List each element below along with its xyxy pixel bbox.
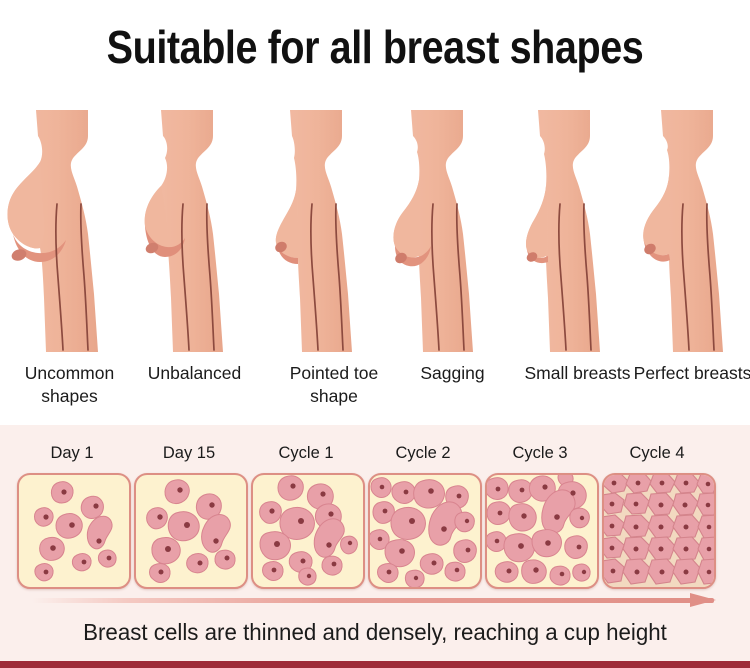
cell-cluster-icon	[19, 475, 129, 587]
shape-label-3: Pointed toe shape	[270, 362, 398, 408]
breast-profile-uncommon-icon	[2, 108, 127, 353]
stage-label-2: Day 15	[133, 443, 245, 463]
cell-box-3	[251, 473, 365, 589]
cell-progression-panel: Day 1 Day 15 Cycle 1 Cycle 2 Cycle 3 Cyc…	[0, 425, 750, 661]
stage-label-4: Cycle 2	[367, 443, 479, 463]
shape-figure-3	[252, 108, 377, 353]
shape-figure-4	[377, 108, 502, 353]
stage-label-3: Cycle 1	[250, 443, 362, 463]
cell-box-4	[368, 473, 482, 589]
shape-label-1: Uncommon shapes	[7, 362, 132, 408]
shape-label-2: Unbalanced	[132, 362, 257, 385]
breast-profile-pointed-icon	[252, 108, 377, 353]
arrow-shaft	[32, 598, 714, 603]
cell-box-2	[134, 473, 248, 589]
progression-arrow-icon	[0, 591, 750, 609]
shape-label-4: Sagging	[390, 362, 515, 385]
page-title: Suitable for all breast shapes	[53, 22, 698, 72]
progression-caption: Breast cells are thinned and densely, re…	[11, 617, 739, 647]
arrow-head	[690, 593, 716, 607]
cell-cluster-dense-icon	[604, 475, 714, 587]
cell-box-1	[17, 473, 131, 589]
poster-root: Suitable for all breast shapes	[0, 0, 750, 668]
breast-profile-perfect-icon	[625, 108, 750, 353]
shape-figure-2	[127, 108, 252, 353]
stage-label-1: Day 1	[16, 443, 128, 463]
shape-figure-5	[502, 108, 627, 353]
shape-figure-1	[2, 108, 127, 353]
cell-box-6	[602, 473, 716, 589]
shape-label-6: Perfect breasts	[630, 362, 750, 385]
stage-label-6: Cycle 4	[601, 443, 713, 463]
breast-profile-small-icon	[502, 108, 627, 353]
stage-label-5: Cycle 3	[484, 443, 596, 463]
bottom-divider	[0, 661, 750, 668]
cell-cluster-icon	[253, 475, 363, 587]
shape-figure-6	[625, 108, 750, 353]
breast-profile-sagging-icon	[377, 108, 502, 353]
shape-label-5: Small breasts	[515, 362, 640, 385]
cell-cluster-icon	[136, 475, 246, 587]
breast-shapes-figure-row	[0, 108, 750, 353]
cell-cluster-icon	[487, 475, 597, 587]
cell-box-5	[485, 473, 599, 589]
breast-profile-unbalanced-icon	[127, 108, 252, 353]
cell-cluster-icon	[370, 475, 480, 587]
breast-shapes-label-row: Uncommon shapes Unbalanced Pointed toe s…	[0, 362, 750, 420]
